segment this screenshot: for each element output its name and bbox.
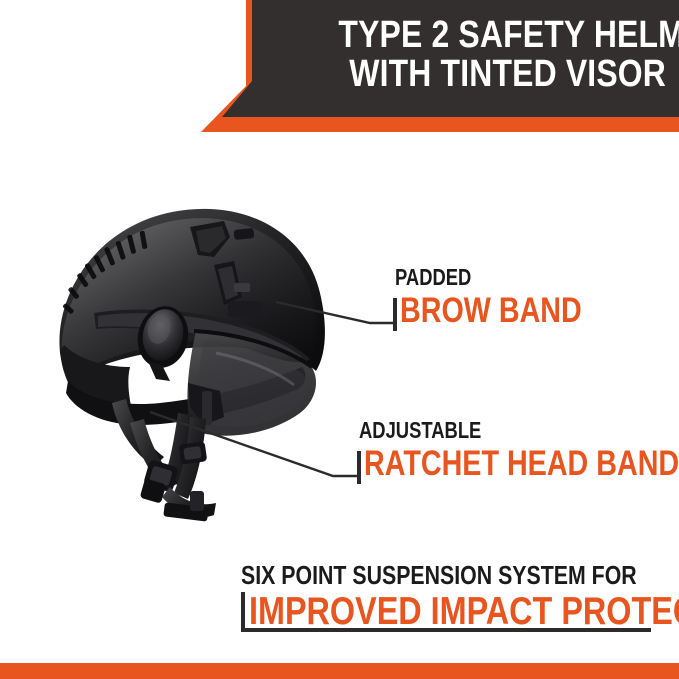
callout-ratchet-head-band: ADJUSTABLE RATCHET HEAD BAND — [357, 419, 679, 481]
footline-headline: IMPROVED IMPACT PROTECTION — [249, 592, 591, 631]
footline-kicker: SIX POINT SUSPENSION SYSTEM FOR — [241, 562, 585, 588]
footline-tick — [241, 592, 245, 628]
page-title-line-1: TYPE 2 SAFETY HELMET — [338, 16, 666, 55]
callout-kicker-ratchet-head-band: ADJUSTABLE — [359, 419, 670, 442]
page-title-line-2: WITH TINTED VISOR — [338, 55, 666, 94]
footer-accent-bar — [0, 663, 679, 679]
helmet-product-image — [38, 185, 348, 550]
callout-tick-ratchet-head-band — [357, 451, 361, 484]
callout-headline-brow-band: BROW BAND — [400, 293, 582, 328]
callout-kicker-brow-band: PADDED — [395, 266, 576, 289]
callout-tick-brow-band — [393, 298, 397, 331]
callout-headline-ratchet-head-band: RATCHET HEAD BAND — [364, 446, 679, 481]
chin-strap — [130, 417, 216, 522]
header-banner: TYPE 2 SAFETY HELMET WITH TINTED VISOR — [0, 0, 679, 136]
infographic-page: TYPE 2 SAFETY HELMET WITH TINTED VISOR — [0, 0, 679, 679]
callout-brow-band: PADDED BROW BAND — [393, 266, 622, 328]
footline-block: SIX POINT SUSPENSION SYSTEM FOR IMPROVED… — [241, 562, 661, 631]
page-title: TYPE 2 SAFETY HELMET WITH TINTED VISOR — [338, 16, 666, 94]
